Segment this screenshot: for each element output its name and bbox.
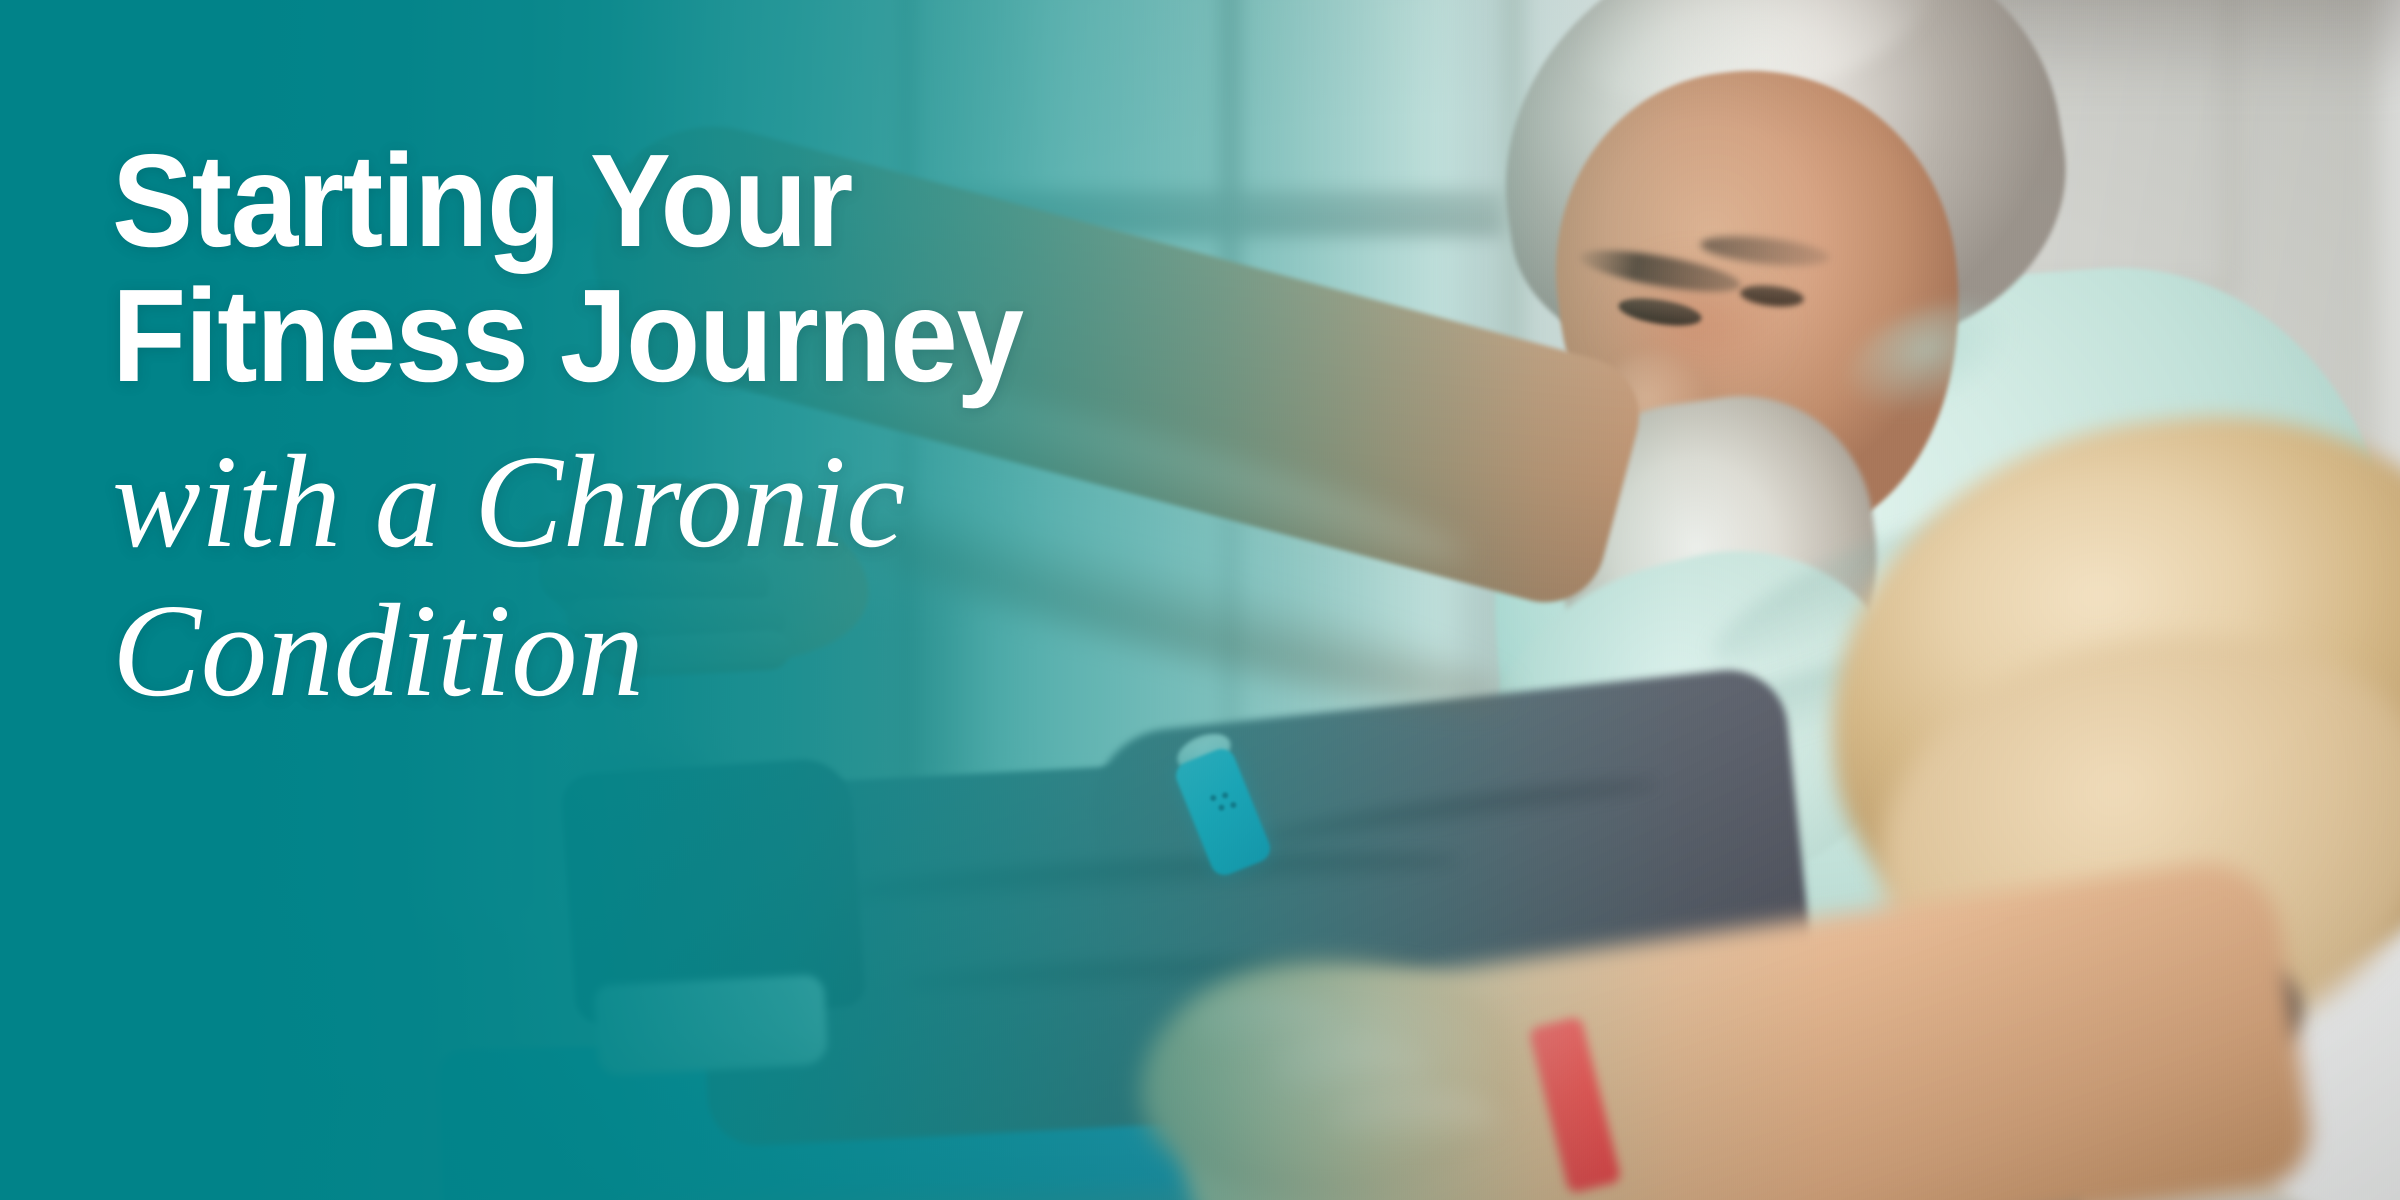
headline-line-3: with a Chronic <box>112 427 1512 576</box>
headline-line-2: Fitness Journey <box>112 269 1400 404</box>
headline-line-4: Condition <box>112 576 1512 725</box>
hero-banner: Starting Your Fitness Journey with a Chr… <box>0 0 2400 1200</box>
page-title: Starting Your Fitness Journey with a Chr… <box>112 134 1512 725</box>
headline-line-1: Starting Your <box>112 134 1400 269</box>
